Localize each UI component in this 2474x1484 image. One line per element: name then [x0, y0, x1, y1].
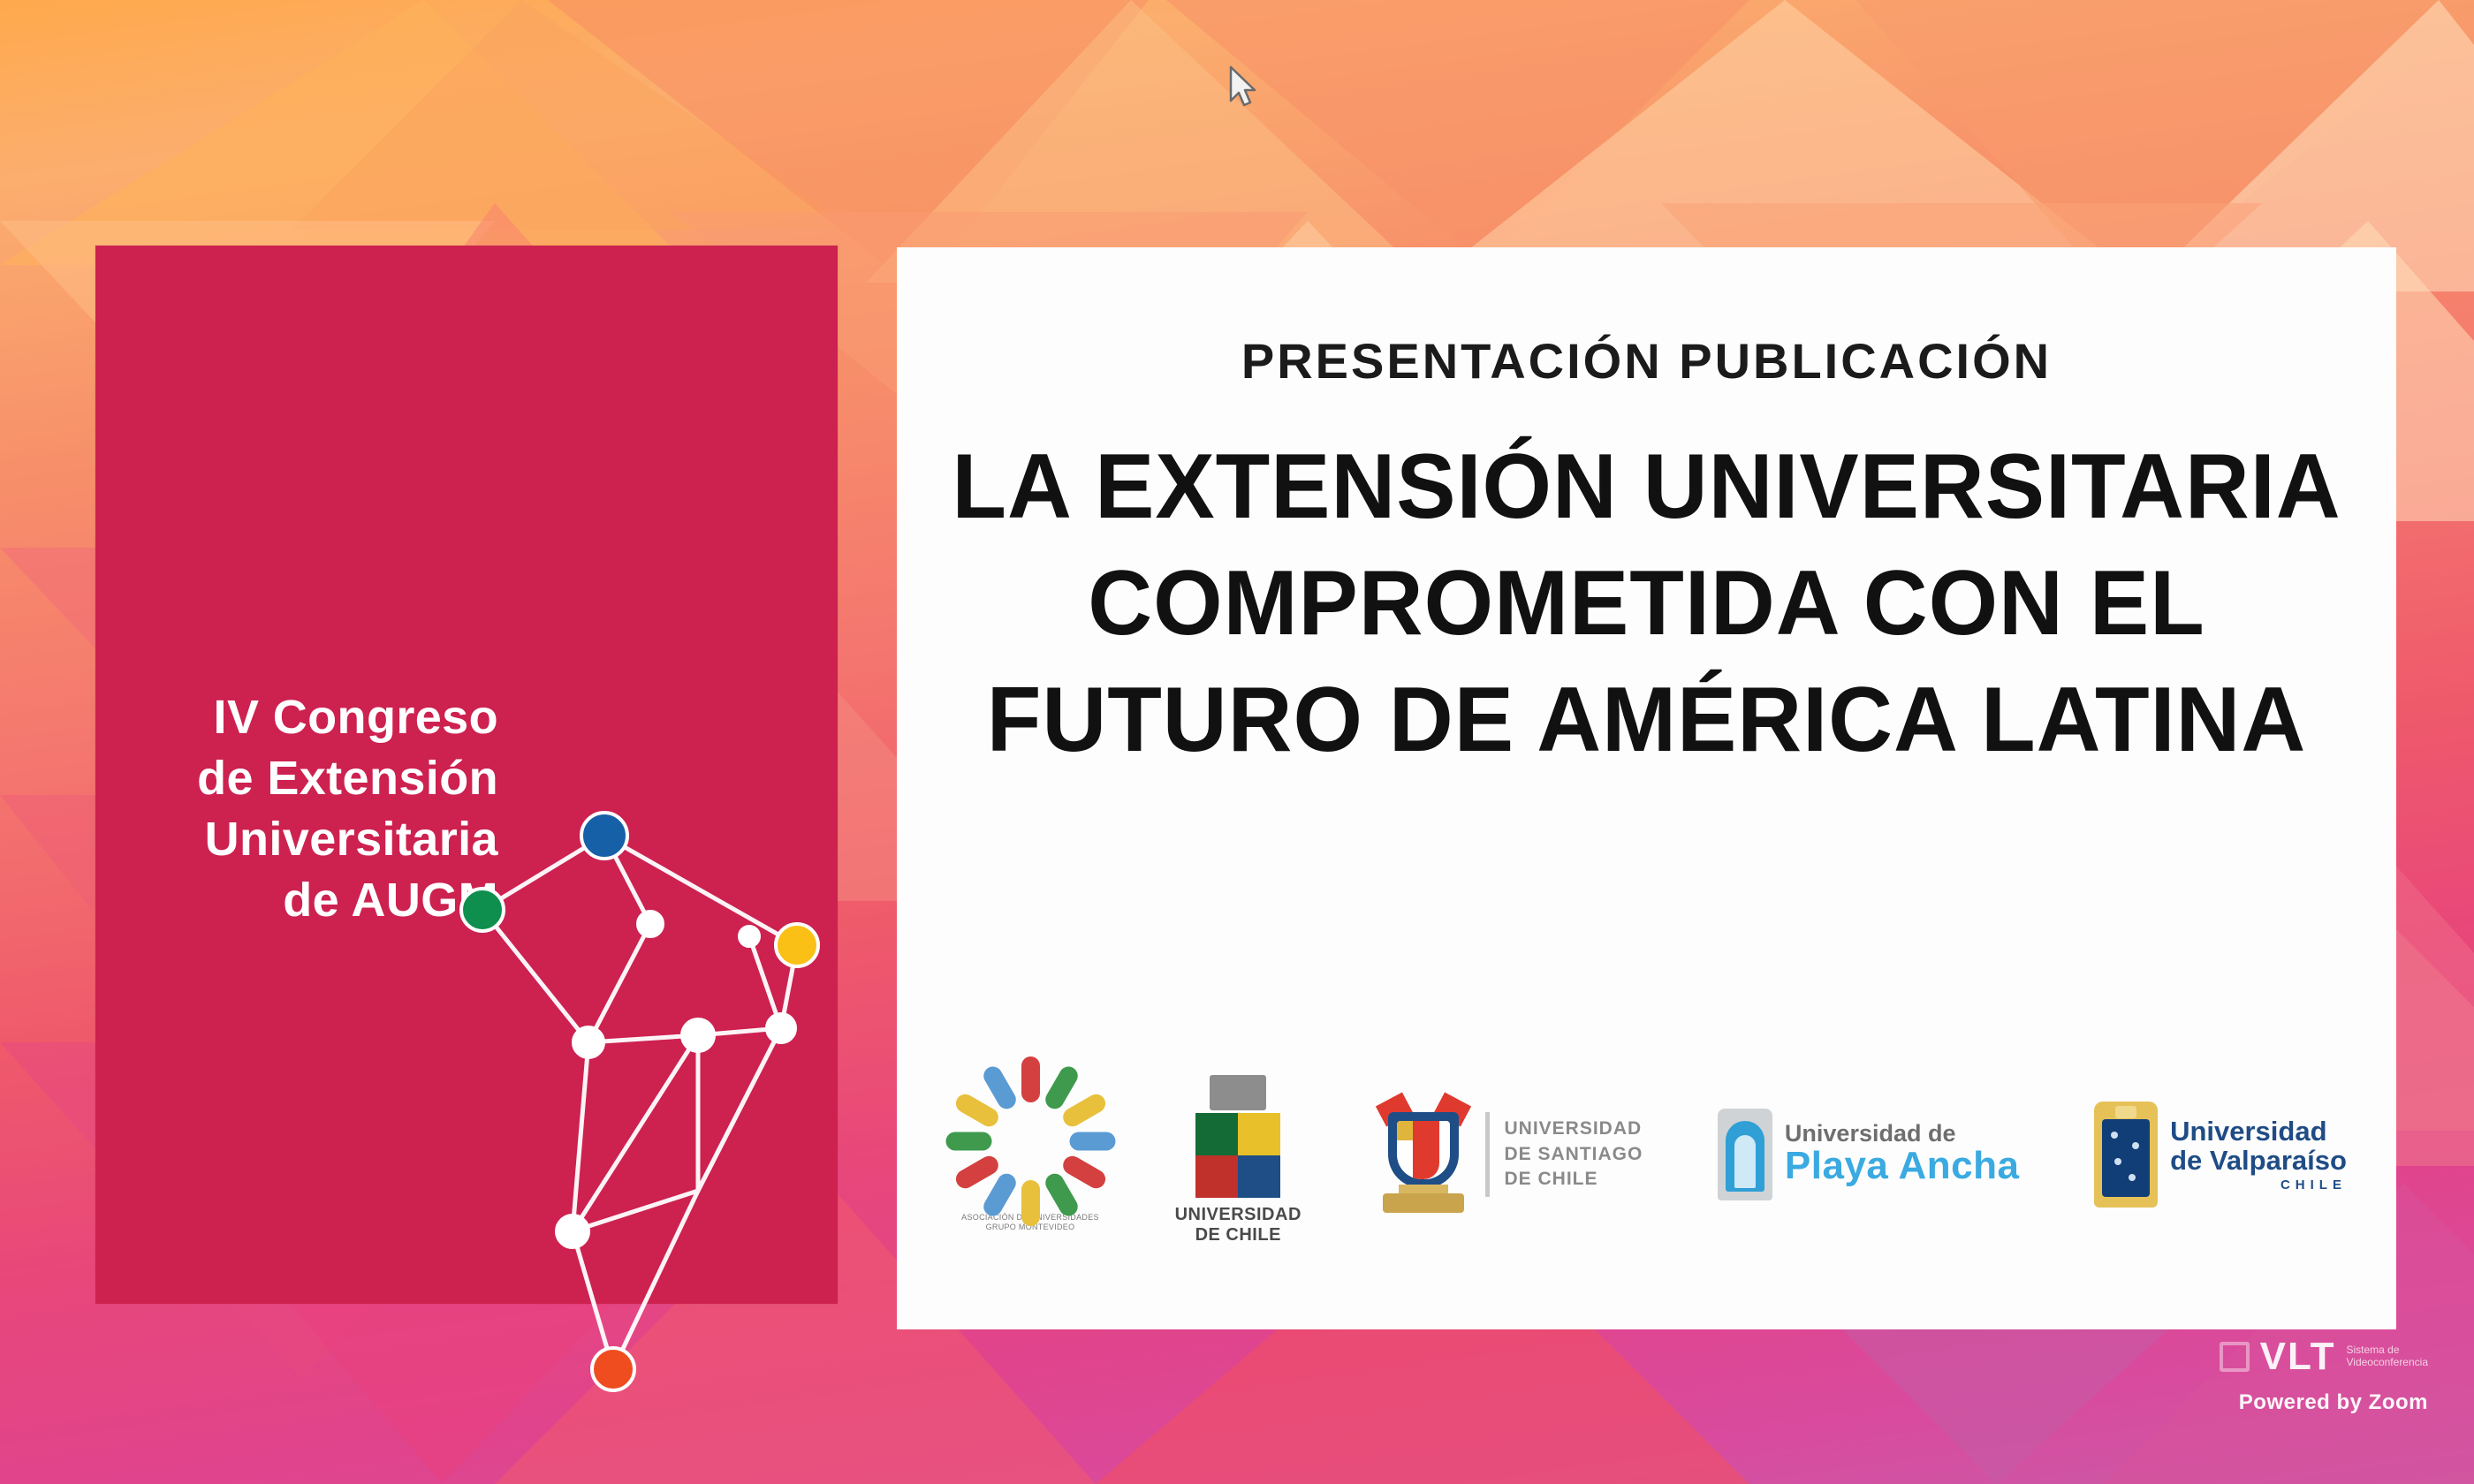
uchile-crest-quadrants: [1195, 1113, 1280, 1198]
node-white-2: [740, 927, 759, 946]
powered-by-zoom-label: Powered by Zoom: [2220, 1390, 2428, 1415]
uchile-wordmark: UNIVERSIDAD DE CHILE: [1175, 1205, 1302, 1245]
augm-congress-card: IV Congreso de Extensión Universitaria d…: [95, 246, 838, 1304]
playa-ancha-line-1: Universidad de: [1785, 1122, 2020, 1146]
uchile-crest-quadrant: [1238, 1113, 1280, 1155]
vlt-square-icon: [2220, 1342, 2250, 1372]
augm-sunburst-logo: ASOCIACIÓN DE UNIVERSIDADES GRUPO MONTEV…: [960, 1075, 1100, 1234]
augm-line-2: de Extensión: [127, 748, 498, 809]
usach-line-3: DE CHILE: [1504, 1167, 1643, 1192]
universidad-de-santiago-logo: UNIVERSIDAD DE SANTIAGO DE CHILE: [1376, 1075, 1643, 1234]
sunburst-icon: [964, 1075, 1097, 1208]
playa-ancha-line-2: Playa Ancha: [1785, 1146, 2020, 1186]
universidad-de-chile-logo: UNIVERSIDAD DE CHILE: [1175, 1075, 1302, 1234]
vlt-brand: VLT: [2260, 1337, 2336, 1376]
node-white-1: [638, 912, 663, 936]
usach-divider: [1485, 1112, 1490, 1197]
vlt-subtitle-line-1: Sistema de: [2346, 1344, 2428, 1357]
slide-title-line-2: COMPROMETIDA CON EL: [919, 545, 2373, 662]
vlt-watermark: VLT Sistema de Videoconferencia Powered …: [2220, 1337, 2428, 1415]
slide-title: LA EXTENSIÓN UNIVERSITARIA COMPROMETIDA …: [919, 428, 2373, 778]
usach-line-1: UNIVERSIDAD: [1504, 1117, 1643, 1141]
universidad-de-playa-ancha-logo: Universidad de Playa Ancha: [1718, 1075, 2020, 1234]
uchile-crest-top: [1210, 1075, 1266, 1110]
vlt-subtitle-line-2: Videoconferencia: [2346, 1357, 2428, 1369]
node-white-5: [767, 1014, 795, 1042]
uchile-line-2: DE CHILE: [1175, 1225, 1302, 1245]
augm-network-map-icon: [431, 811, 838, 1420]
presentation-slide: PRESENTACIÓN PUBLICACIÓN LA EXTENSIÓN UN…: [897, 247, 2396, 1329]
sunburst-petal: [1021, 1180, 1040, 1226]
vlt-subtitle: Sistema de Videoconferencia: [2346, 1344, 2428, 1369]
slide-title-line-3: FUTURO DE AMÉRICA LATINA: [919, 662, 2373, 778]
node-white-6: [557, 1215, 588, 1247]
node-white-4: [682, 1019, 714, 1051]
valparaiso-line-1: Universidad: [2170, 1117, 2347, 1146]
usach-line-2: DE SANTIAGO: [1504, 1142, 1643, 1167]
node-yellow: [776, 924, 818, 966]
uchile-crest-icon: [1195, 1075, 1280, 1198]
usach-wordmark: UNIVERSIDAD DE SANTIAGO DE CHILE: [1504, 1117, 1643, 1192]
node-orange: [592, 1348, 634, 1390]
sponsor-logo-strip: ASOCIACIÓN DE UNIVERSIDADES GRUPO MONTEV…: [960, 1075, 2347, 1234]
playa-ancha-wordmark: Universidad de Playa Ancha: [1785, 1122, 2020, 1186]
node-white-3: [573, 1027, 603, 1057]
augm-line-1: IV Congreso: [127, 687, 498, 748]
valparaiso-wordmark: Universidad de Valparaíso CHILE: [2170, 1117, 2347, 1193]
slide-kicker: PRESENTACIÓN PUBLICACIÓN: [897, 332, 2396, 390]
playa-ancha-mark-icon: [1718, 1109, 1772, 1200]
usach-shield-icon: [1376, 1093, 1471, 1216]
uchile-line-1: UNIVERSIDAD: [1175, 1205, 1302, 1225]
slide-title-line-1: LA EXTENSIÓN UNIVERSITARIA: [919, 428, 2373, 545]
valparaiso-line-2: de Valparaíso: [2170, 1146, 2347, 1175]
uchile-crest-quadrant: [1238, 1155, 1280, 1198]
screen-share-stage: IV Congreso de Extensión Universitaria d…: [0, 0, 2474, 1484]
node-blue: [581, 813, 627, 859]
node-green: [461, 889, 504, 931]
valparaiso-crest-icon: [2094, 1102, 2158, 1208]
sunburst-petal: [1021, 1056, 1040, 1102]
valparaiso-line-3: CHILE: [2170, 1177, 2347, 1192]
sunburst-petal: [945, 1132, 991, 1151]
sunburst-petal: [1069, 1132, 1115, 1151]
arrow-cursor: [1228, 65, 1258, 110]
universidad-de-valparaiso-logo: Universidad de Valparaíso CHILE: [2094, 1075, 2347, 1234]
uchile-crest-quadrant: [1195, 1113, 1238, 1155]
uchile-crest-quadrant: [1195, 1155, 1238, 1198]
